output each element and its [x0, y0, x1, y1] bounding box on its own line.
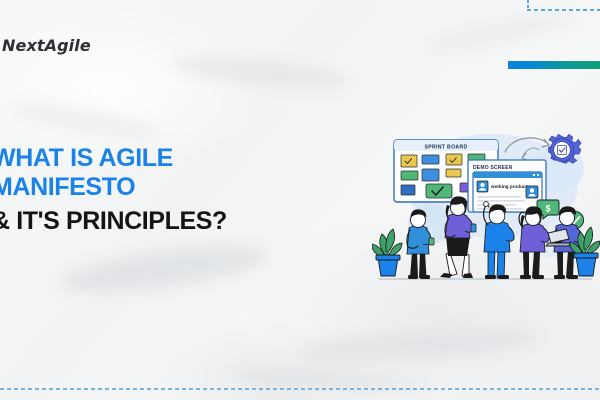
- sticky-note: [401, 171, 418, 180]
- paper-texture-streak: [419, 4, 580, 61]
- page-title-line-2: MANIFESTO: [0, 173, 322, 202]
- sticky-note: [401, 155, 417, 167]
- user-avatar-icon: [477, 181, 488, 192]
- page-title: WHAT IS AGILE MANIFESTO & IT'S PRINCIPLE…: [0, 144, 322, 236]
- dashed-bottom-rule: [0, 388, 600, 390]
- sticky-note: [446, 154, 462, 165]
- dashed-corner-bracket-horizontal: [527, 9, 600, 11]
- page-title-line-1: WHAT IS AGILE: [0, 144, 322, 173]
- agile-manifesto-banner: NextAgile WHAT IS AGILE MANIFESTO & IT'S…: [0, 0, 600, 400]
- paper-texture-streak: [9, 97, 161, 145]
- gradient-accent-bar: [508, 61, 600, 69]
- sticky-note: [422, 169, 439, 181]
- brand-name: NextAgile: [2, 36, 91, 55]
- paper-texture-streak: [58, 236, 271, 303]
- user-avatar-icon: [526, 186, 538, 198]
- demo-screen-caption: working product: [490, 184, 527, 189]
- content-line: [477, 196, 521, 198]
- paper-texture-streak: [299, 322, 541, 369]
- content-line: [477, 200, 525, 202]
- page-title-line-3: & IT'S PRINCIPLES?: [0, 207, 322, 236]
- sprint-board-title: SPRINT BOARD: [424, 145, 467, 151]
- sticky-note: [422, 155, 439, 164]
- sticky-note: [446, 169, 461, 177]
- demo-screen-title: DEMO SCREEN: [473, 165, 513, 171]
- brand-logo[interactable]: NextAgile: [0, 36, 91, 55]
- demo-screen-panel: DEMO SCREEN working product: [468, 160, 546, 212]
- svg-text:$: $: [545, 203, 550, 213]
- paper-texture-streak: [230, 365, 431, 395]
- paper-texture-streak: [169, 51, 351, 96]
- done-check-badge: [426, 184, 452, 198]
- agile-team-sprint-review-illustration: SPRINT BOARD: [372, 128, 600, 300]
- sticky-note: [401, 185, 415, 195]
- potted-plant-left: [372, 229, 402, 276]
- dashed-corner-bracket: [527, 0, 600, 12]
